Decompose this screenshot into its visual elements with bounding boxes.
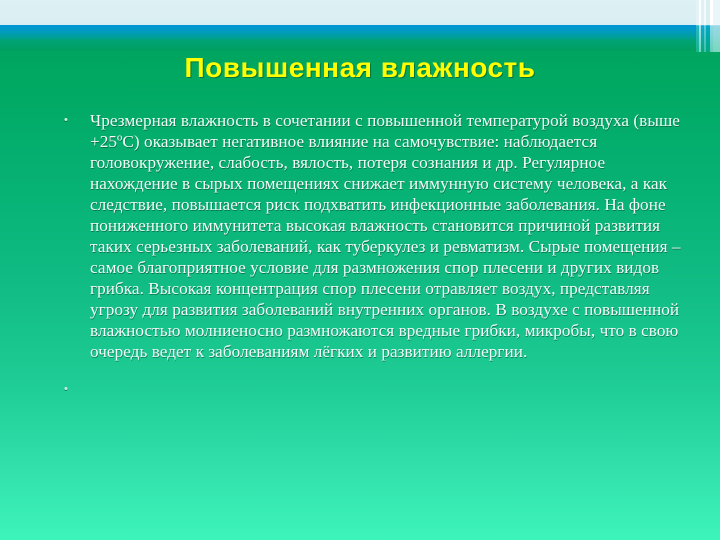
presentation-slide: Повышенная влажность • Чрезмерная влажно… <box>0 0 720 540</box>
header-fade-band <box>0 41 720 51</box>
bullet-marker-icon: • <box>58 110 90 131</box>
corner-stripes-decoration <box>696 0 720 52</box>
bullet-paragraph <box>90 379 688 400</box>
slide-body: • Чрезмерная влажность в сочетании с пов… <box>58 110 688 400</box>
list-item: • <box>58 379 688 400</box>
slide-title: Повышенная влажность <box>0 52 720 84</box>
header-blue-band <box>0 25 720 41</box>
list-item: • Чрезмерная влажность в сочетании с пов… <box>58 110 688 362</box>
bullet-paragraph: Чрезмерная влажность в сочетании с повыш… <box>90 110 688 362</box>
header-light-band <box>0 0 720 25</box>
stripe-7 <box>713 0 720 52</box>
bullet-marker-icon: • <box>58 379 90 400</box>
